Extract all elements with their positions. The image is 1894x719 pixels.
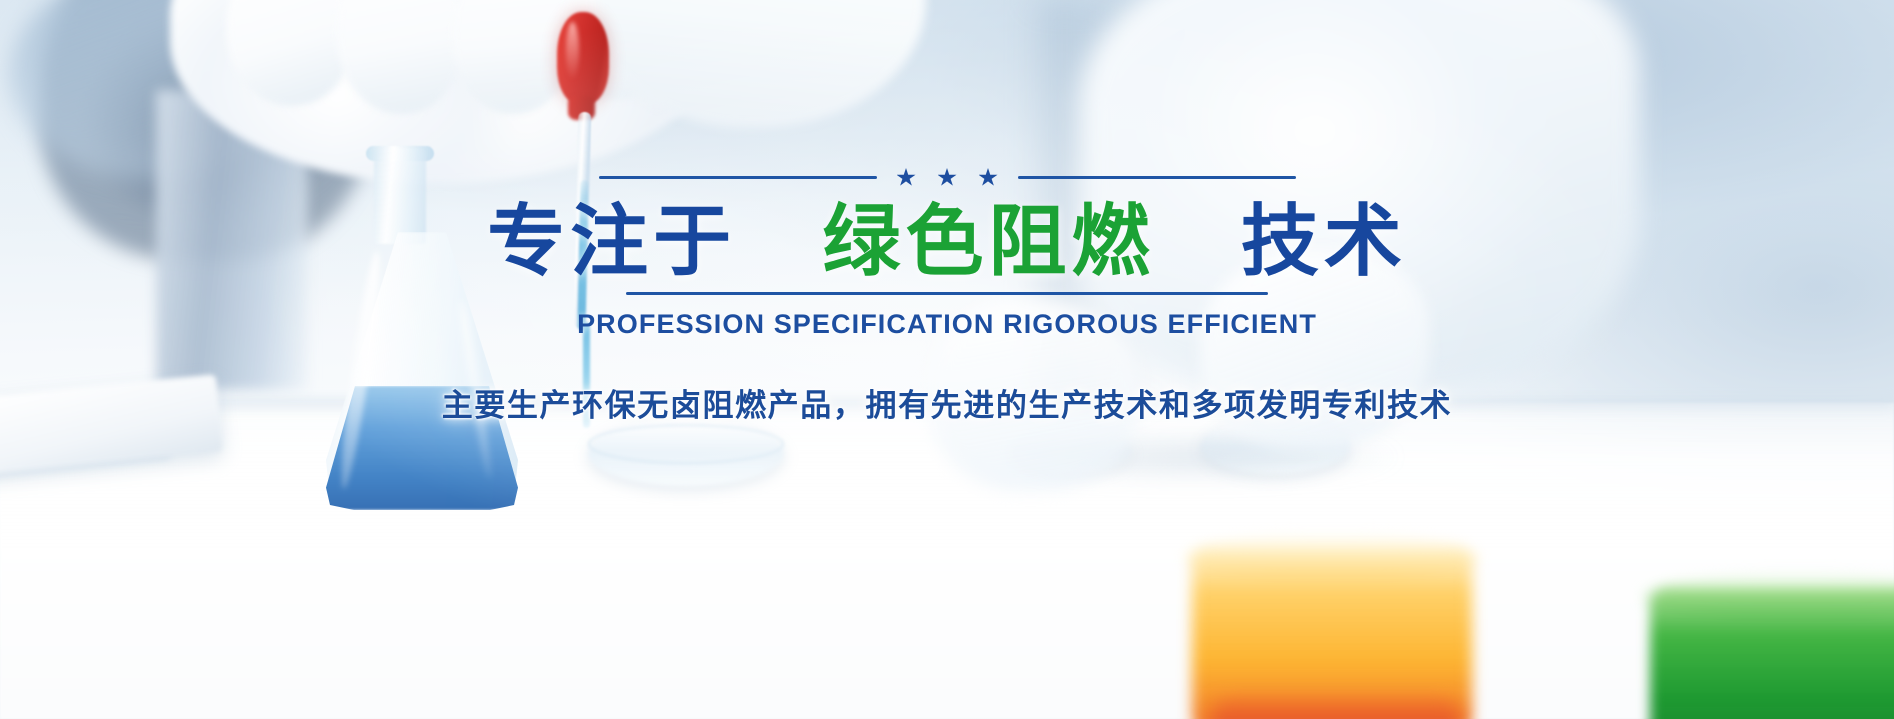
divider-rule-right [1018, 176, 1296, 179]
headline-part-3: 技术 [1241, 197, 1407, 287]
divider-rule-left [599, 176, 877, 179]
star-icon [897, 168, 916, 187]
banner-english-subtitle: PROFESSION SPECIFICATION RIGOROUS EFFICI… [577, 309, 1317, 340]
headline-part-1: 专注于 [487, 197, 736, 287]
decorative-star-divider [0, 168, 1894, 187]
star-icon [938, 168, 957, 187]
banner-content: 专注于 绿色阻燃 技术 PROFESSION SPECIFICATION RIG… [0, 168, 1894, 425]
star-group [891, 168, 1004, 187]
hero-banner: 专注于 绿色阻燃 技术 PROFESSION SPECIFICATION RIG… [0, 0, 1894, 719]
banner-headline: 专注于 绿色阻燃 技术 [487, 199, 1407, 286]
orange-beaker-glass [1178, 530, 1486, 719]
star-icon [979, 168, 998, 187]
green-beaker-glass [1636, 570, 1894, 719]
banner-tagline: 主要生产环保无卤阻燃产品，拥有先进的生产技术和多项发明专利技术 [442, 380, 1453, 425]
headline-part-2: 绿色阻燃 [822, 197, 1154, 287]
headline-underline-rule [626, 292, 1268, 295]
